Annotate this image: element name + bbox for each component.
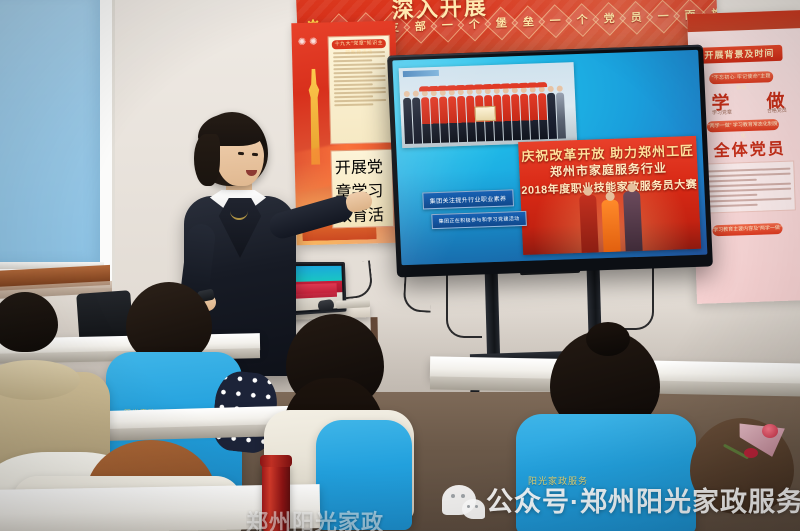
thermos-cap xyxy=(260,455,292,467)
poster-right-top-band xyxy=(687,10,800,32)
watermark-overlay: 公众号·郑州阳光家政服务公司 xyxy=(442,480,800,519)
poster-left-header: 十九大"党章"知识主题教育活动 xyxy=(332,39,386,49)
poster-right-big-2: 全体党员 xyxy=(701,134,798,161)
poster-right-header: 开展背景及时间 xyxy=(696,45,783,64)
tv-cable xyxy=(612,262,654,330)
wechat-icon xyxy=(442,485,476,515)
award-plaque xyxy=(474,106,496,122)
presenter-eye-left xyxy=(238,152,244,155)
wall-display-tv[interactable]: 庆祝改革开放 助力郑州工匠 郑州市家庭服务行业 2018年度职业技能家政服务员大… xyxy=(387,45,713,278)
hair-bun xyxy=(586,322,630,356)
rose-ribbon xyxy=(744,448,758,458)
poster-right-pill-2: "两学一做" 学习教育常态化制度化 xyxy=(707,119,779,133)
tv-stand-column-left xyxy=(485,270,501,366)
poster-right-pill-3: 学习教育主要内容及"两学一做" xyxy=(712,223,782,236)
slide-stage-photo: 庆祝改革开放 助力郑州工匠 郑州市家庭服务行业 2018年度职业技能家政服务员大… xyxy=(518,136,701,255)
photo-backdrop-banner xyxy=(403,70,439,77)
poster-right-pill-1: "不忘初心·牢记使命"主题教育 xyxy=(709,71,773,84)
presenter-hair-side xyxy=(194,134,220,186)
watermark-text: 公众号·郑州阳光家政服务公司 xyxy=(486,480,800,519)
poster-right-body-text xyxy=(702,160,796,213)
rose-bud xyxy=(762,424,778,438)
poster-right-sub-left: 学习党章 xyxy=(712,109,732,117)
poster-right-sub-right: 合格党员 xyxy=(767,107,787,115)
window-blind xyxy=(0,0,100,262)
presenter-eye-right xyxy=(252,153,258,156)
photo-scene: ⚙ 一 个 支 部 一 个 堡 垒 一 个 党 员 一 面 旗 帜 深入开展 ✺… xyxy=(0,0,800,531)
tv-screen[interactable]: 庆祝改革开放 助力郑州工匠 郑州市家庭服务行业 2018年度职业技能家政服务员大… xyxy=(392,50,707,265)
slide-group-photo xyxy=(399,62,578,148)
slide-caption-1: 集团关注提升行业职业素养 xyxy=(422,189,514,209)
banner-right-title: 深入开展 xyxy=(391,0,533,39)
dove-icon: ✺✺ xyxy=(298,37,321,49)
stage-figures xyxy=(579,191,643,253)
